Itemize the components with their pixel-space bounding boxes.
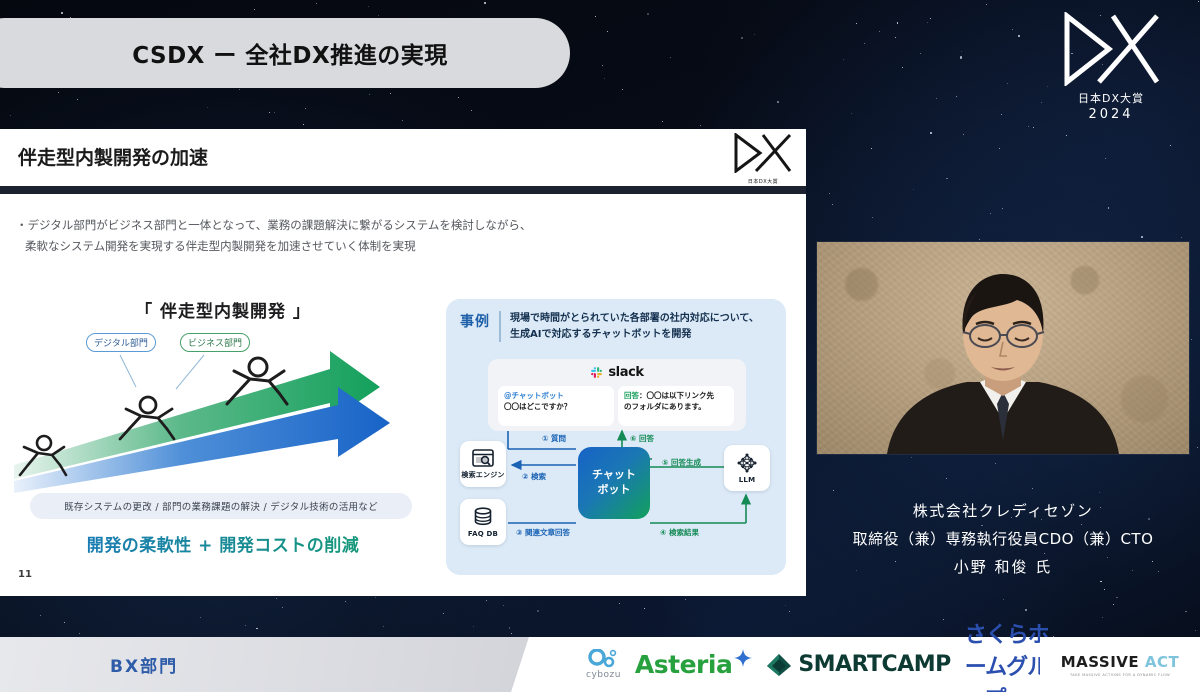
bullet-line-1: ・デジタル部門がビジネス部門と一体となって、業務の課題解決に繋がるシステムを検討… <box>16 218 531 232</box>
case-study-panel: 事例 現場で時間がとられていた各部署の社内対応について、 生成AIで対応するチャ… <box>446 299 786 575</box>
award-logo: 日本DX大賞 2024 <box>1050 12 1172 124</box>
flow-label-6: ⑥ 回答 <box>630 433 654 444</box>
slide-bullet-text: ・デジタル部門がビジネス部門と一体となって、業務の課題解決に繋がるシステムを検討… <box>16 215 696 258</box>
speaker-portrait <box>817 264 1189 454</box>
speaker-company: 株式会社クレディセゾン <box>812 500 1194 521</box>
asteria-wordmark: Asteria <box>635 650 732 679</box>
flow-label-2: ② 検索 <box>522 471 546 482</box>
database-icon <box>472 506 494 528</box>
node-chatbot: チャット ボット <box>578 447 650 519</box>
slide-surface: 伴走型内製開発の加速 日本DX大賞 ・デジタル部門がビジネス部門と一体となって、… <box>0 129 806 596</box>
bullet-line-2: 柔軟なシステム開発を実現する伴走型内製開発を加速させていく体制を実現 <box>16 236 696 257</box>
slide-page-number: 11 <box>18 569 32 580</box>
scope-tags-text: 既存システムの更改 / 部門の業務課題の解決 / デジタル技術の活用など <box>64 499 378 513</box>
speaker-video-tile <box>817 242 1189 454</box>
node-chatbot-line-2: ボット <box>598 483 631 498</box>
node-llm: LLM <box>724 445 770 491</box>
session-title-banner: CSDX ー 全社DX推進の実現 <box>0 18 570 88</box>
slide-award-logo: 日本DX大賞 <box>732 133 794 185</box>
flow-label-1: ① 質問 <box>542 433 566 444</box>
node-faq-db: FAQ DB <box>460 499 506 545</box>
flow-label-5: ⑤ 回答生成 <box>662 457 701 468</box>
slide-heading: 伴走型内製開発の加速 <box>18 143 208 170</box>
neural-network-icon <box>735 452 759 474</box>
slide-header-rule <box>0 186 806 194</box>
scope-tags-pill: 既存システムの更改 / 部門の業務課題の解決 / デジタル技術の活用など <box>30 493 412 519</box>
search-engine-icon <box>471 448 495 468</box>
speaker-name: 小野 和俊 氏 <box>812 556 1194 577</box>
slide-award-logo-caption: 日本DX大賞 <box>732 178 794 185</box>
speaker-caption: 株式会社クレディセゾン 取締役（兼）専務執行役員CDO（兼）CTO 小野 和俊 … <box>812 500 1194 577</box>
diagram-title: 「 伴走型内製開発 」 <box>8 297 438 322</box>
sponsor-massive-act: MASSIVE ACT TAKE MASSIVE ACTIONS FOR A D… <box>1040 637 1200 692</box>
massive-word: MASSIVE <box>1061 653 1145 671</box>
footer-bar: BX部門 cybozu Asteria <box>0 637 1200 692</box>
footer-category-label: BX部門 <box>110 652 178 677</box>
slide-header: 伴走型内製開発の加速 日本DX大賞 <box>0 129 806 186</box>
smartcamp-icon <box>766 653 792 677</box>
node-search-engine-label: 検索エンジン <box>461 470 504 480</box>
diagram-result-text: 開発の柔軟性 + 開発コストの削減 <box>8 531 438 556</box>
accompanying-development-diagram: 「 伴走型内製開発 」 デジタル部門 ビジネス部門 <box>8 297 438 587</box>
footer-category-section: BX部門 <box>0 637 560 692</box>
node-chatbot-line-1: チャット <box>592 468 636 483</box>
sponsor-cybozu: cybozu <box>586 649 621 680</box>
massive-act-wordmark: MASSIVE ACT <box>1061 653 1180 671</box>
cybozu-wordmark: cybozu <box>586 670 621 680</box>
node-search-engine: 検索エンジン <box>460 441 506 487</box>
dx-mark-icon <box>1059 12 1163 86</box>
flow-label-3: ③ 関連文章回答 <box>516 527 570 538</box>
presentation-stage: CSDX ー 全社DX推進の実現 日本DX大賞 2024 伴走型内製開発の加速 … <box>0 0 1200 692</box>
act-word: ACT <box>1145 653 1179 671</box>
award-logo-year: 2024 <box>1050 107 1172 122</box>
smartcamp-wordmark: SMARTCAMP <box>798 652 950 677</box>
sponsor-smartcamp: SMARTCAMP <box>766 652 950 677</box>
sponsor-logos: cybozu Asteria SMARTCAMP さくらホームグループ <box>580 637 1056 692</box>
node-faq-db-label: FAQ DB <box>468 530 498 538</box>
node-llm-label: LLM <box>739 476 756 484</box>
speaker-role: 取締役（兼）専務執行役員CDO（兼）CTO <box>812 528 1194 549</box>
session-title: CSDX ー 全社DX推進の実現 <box>92 36 448 70</box>
award-logo-name: 日本DX大賞 <box>1050 90 1172 106</box>
sparkle-icon <box>734 649 752 667</box>
massive-act-tagline: TAKE MASSIVE ACTIONS FOR A DYNAMIC FLOW <box>1070 673 1170 677</box>
sponsor-asteria: Asteria <box>635 649 752 681</box>
flow-label-4: ④ 検索結果 <box>660 527 699 538</box>
cybozu-icon <box>586 649 620 669</box>
